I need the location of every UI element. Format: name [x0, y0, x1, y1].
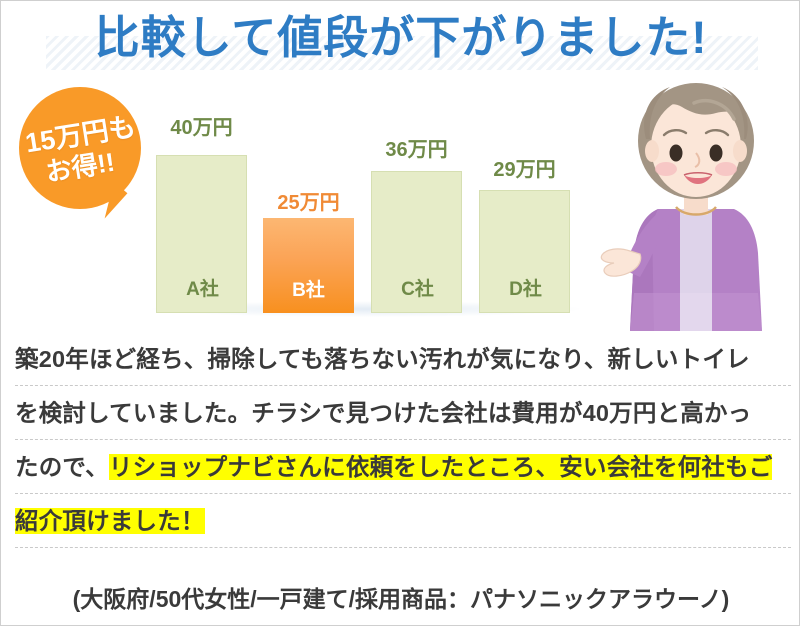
testimonial-line: 築20年ほど経ち、掃除しても落ちない汚れが気になり、新しいトイレ — [1, 335, 800, 389]
bar-group-d: 29万円 D社 — [479, 101, 570, 313]
elderly-woman-illustration — [596, 73, 796, 335]
testimonial-line-3-highlight: リショップナビさんに依頼をしたところ、安い会社を何社もご — [109, 454, 773, 480]
bar-value-c: 36万円 — [371, 133, 462, 162]
testimonial-attribution: (大阪府/50代女性/一戸建て/採用商品：パナソニックアラウーノ) — [1, 579, 800, 619]
testimonial-text-block: 築20年ほど経ち、掃除しても落ちない汚れが気になり、新しいトイレ を検討していま… — [1, 335, 800, 551]
bar-label-c: C社 — [372, 274, 463, 301]
bar-group-a: 40万円 A社 — [156, 101, 247, 313]
testimonial-attribution-text: (大阪府/50代女性/一戸建て/採用商品：パナソニックアラウーノ) — [73, 586, 730, 612]
testimonial-line-1-text: 築20年ほど経ち、掃除しても落ちない汚れが気になり、新しいトイレ — [15, 335, 783, 383]
testimonial-line: を検討していました。チラシで見つけた会社は費用が40万円と高かっ — [1, 389, 800, 443]
bar-label-d: D社 — [480, 274, 571, 301]
testimonial-line: たので、リショップナビさんに依頼をしたところ、安い会社を何社もご — [1, 443, 800, 497]
testimonial-line-2-text: を検討していました。チラシで見つけた会社は費用が40万円と高かっ — [15, 389, 783, 437]
testimonial-line: 紹介頂けました！ — [1, 497, 800, 551]
bar-group-b: 25万円 B社 — [263, 101, 354, 313]
bar-group-c: 36万円 C社 — [371, 101, 462, 313]
bar-rect-a: A社 — [156, 155, 247, 313]
price-comparison-bar-chart: 40万円 A社 25万円 B社 36万円 C社 29万円 D社 — [149, 101, 579, 313]
page-title: 比較して値段が下がりました! — [1, 5, 800, 71]
bar-label-a: A社 — [157, 274, 248, 301]
bar-value-a: 40万円 — [156, 111, 247, 140]
testimonial-infographic: 比較して値段が下がりました! 15万円も お得!! 40万円 A社 25万円 B… — [0, 0, 800, 626]
bar-rect-c: C社 — [371, 171, 462, 313]
testimonial-line-3-plain: たので、 — [15, 454, 109, 480]
bar-rect-d: D社 — [479, 190, 570, 313]
testimonial-line-4: 紹介頂けました！ — [15, 497, 783, 545]
bar-value-d: 29万円 — [479, 153, 570, 182]
bar-rect-b: B社 — [263, 218, 354, 313]
bar-value-b: 25万円 — [263, 186, 354, 215]
testimonial-line-4-highlight: 紹介頂けました！ — [15, 508, 205, 534]
bar-label-b: B社 — [263, 275, 354, 302]
testimonial-line-3: たので、リショップナビさんに依頼をしたところ、安い会社を何社もご — [15, 443, 783, 491]
